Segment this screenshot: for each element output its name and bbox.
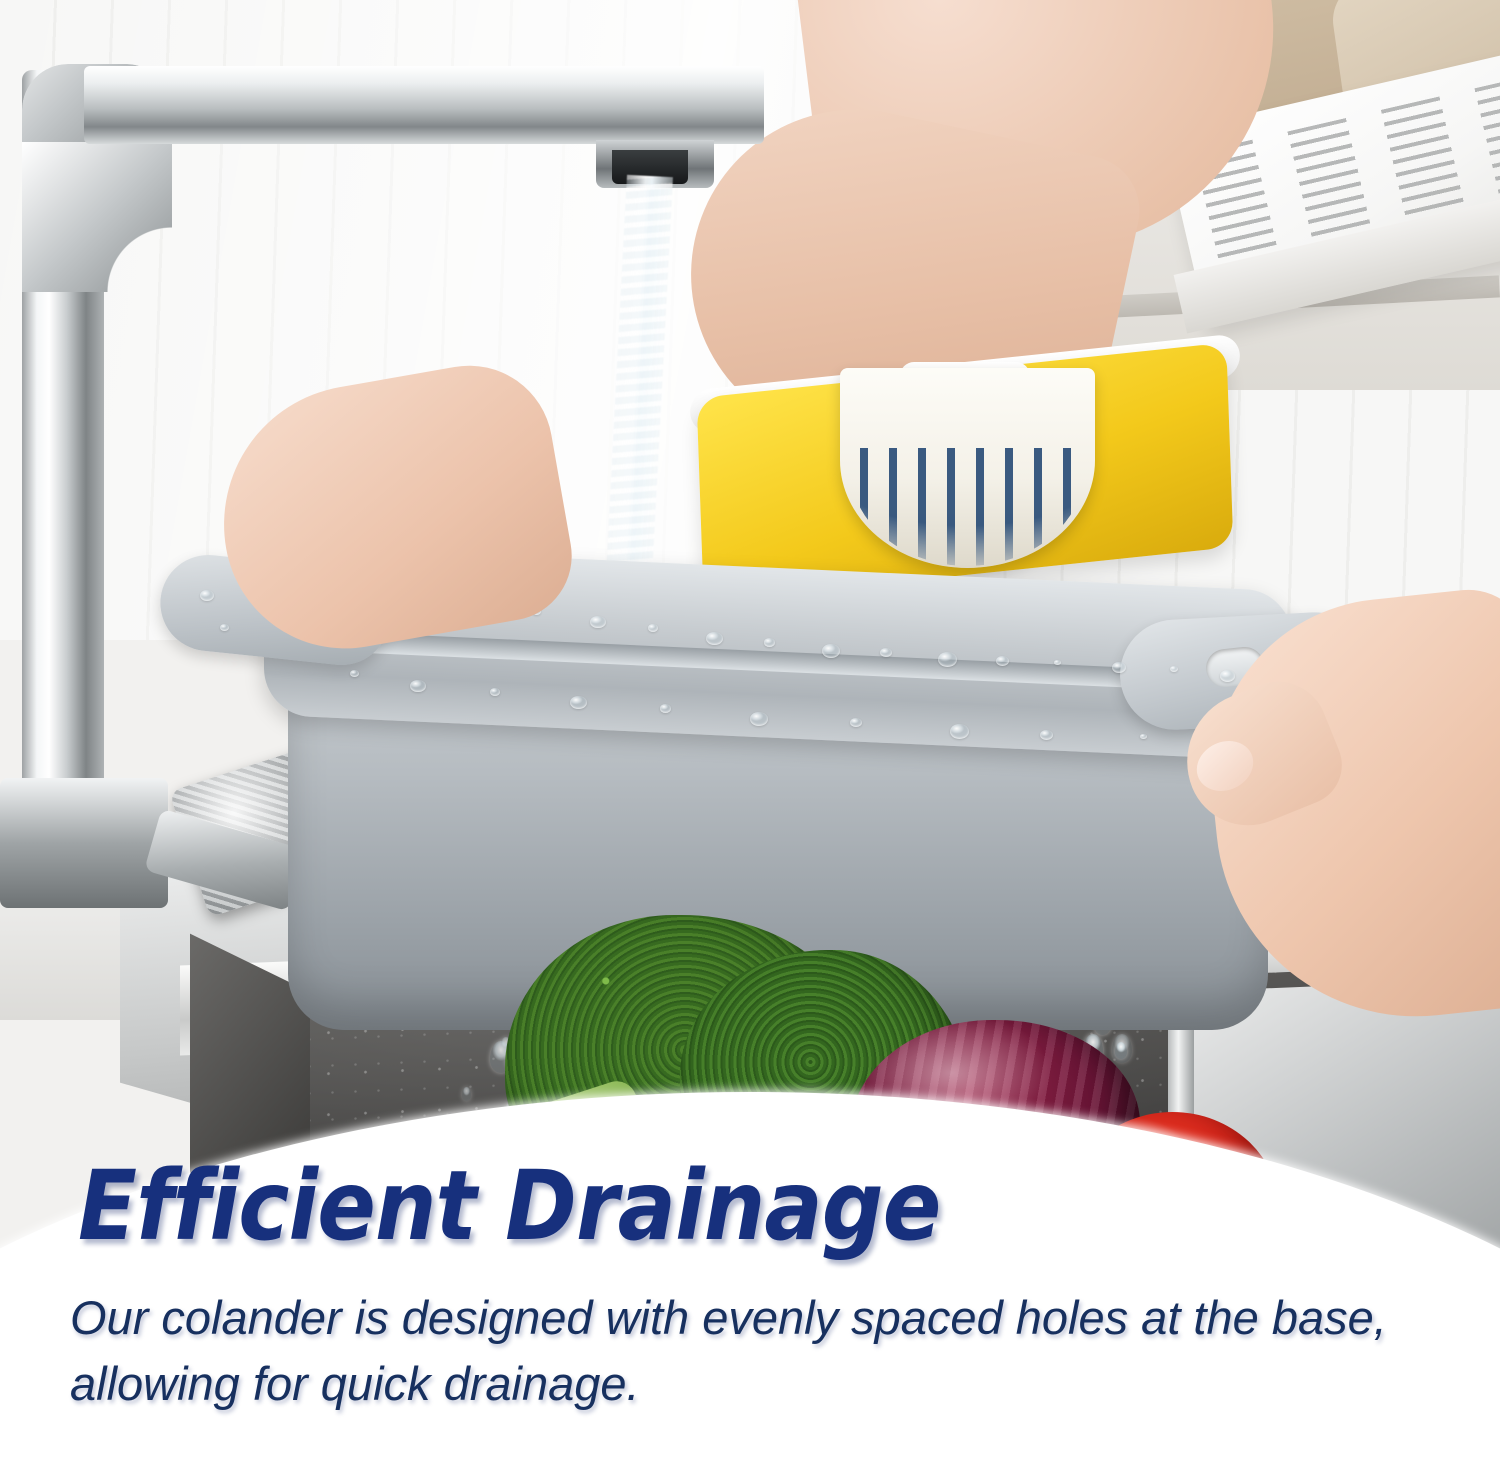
water-droplet <box>462 1087 471 1101</box>
product-feature-image: Efficient Drainage Our colander is desig… <box>0 0 1500 1479</box>
faucet-base <box>0 778 168 908</box>
water-bead <box>200 590 214 601</box>
water-bead <box>660 704 671 713</box>
water-bead <box>1112 662 1126 673</box>
water-bead <box>822 644 840 658</box>
water-bead <box>750 712 768 726</box>
page-title: Efficient Drainage <box>78 1155 1358 1259</box>
water-bead <box>950 724 969 739</box>
faucet-arm <box>84 66 764 144</box>
water-bead <box>764 638 775 647</box>
water-bead <box>350 670 359 677</box>
water-droplet <box>1115 1042 1127 1059</box>
water-bead <box>938 652 957 667</box>
text-block: Efficient Drainage Our colander is desig… <box>0 1155 1500 1418</box>
water-bead <box>490 688 500 696</box>
description-text: Our colander is designed with evenly spa… <box>70 1285 1400 1418</box>
water-bead <box>1220 670 1235 682</box>
water-bead <box>220 624 229 631</box>
water-bead <box>648 624 658 632</box>
